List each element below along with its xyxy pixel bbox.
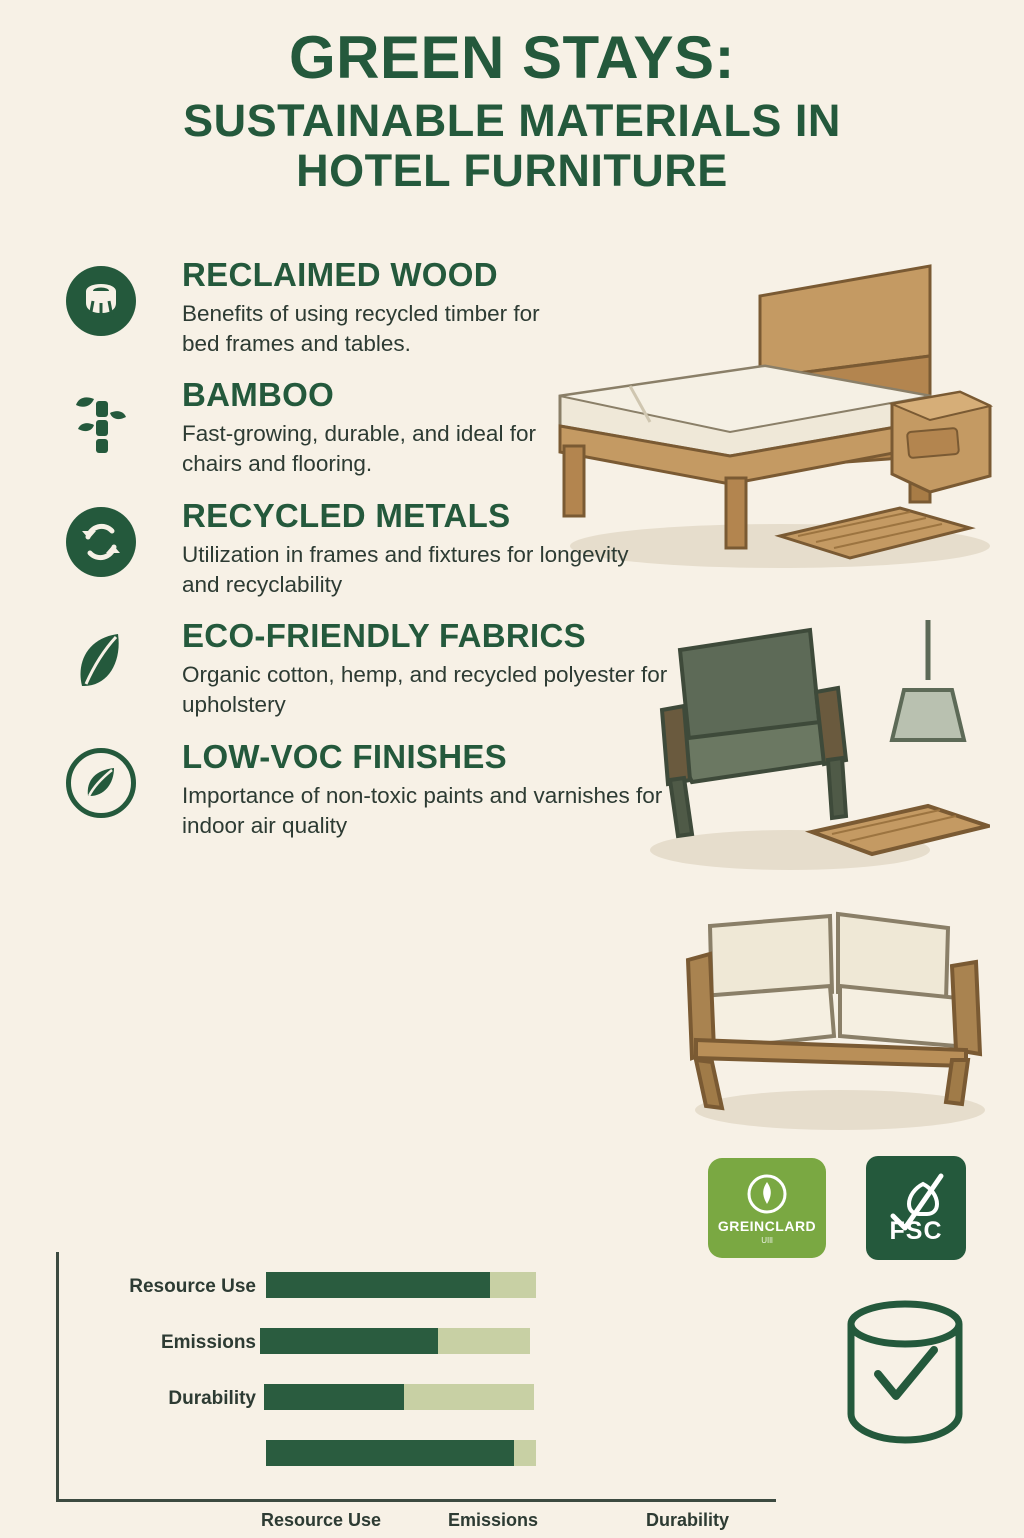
- section-low-voc-finishes: Low-VOC Finishes Importance of non-toxic…: [62, 740, 702, 840]
- section-bamboo: Bamboo Fast-growing, durable, and ideal …: [62, 378, 702, 478]
- section-recycled-metals: Recycled Metals Utilization in frames an…: [62, 499, 702, 599]
- bar-row-0: [266, 1272, 536, 1298]
- section-title: Low-VOC Finishes: [182, 740, 702, 775]
- fsc-badge: FSC: [866, 1156, 966, 1260]
- paint-can-illustration: [830, 1290, 980, 1465]
- section-eco-friendly-fabrics: Eco-Friendly Fabrics Organic cotton, hem…: [62, 619, 702, 719]
- bamboo-icon: [62, 382, 140, 460]
- infographic-page: Green Stays: Sustainable Materials in Ho…: [0, 0, 1024, 1536]
- section-title: Recycled Metals: [182, 499, 702, 534]
- impact-bar-chart: Resource Use Emissions Durability Resour…: [56, 1252, 776, 1522]
- bar-row-2: [264, 1384, 534, 1410]
- greenguard-sublabel: UIll: [761, 1236, 773, 1245]
- bar-row-1: [260, 1328, 530, 1354]
- title-line-2: Sustainable Materials in: [0, 97, 1024, 146]
- section-title: Eco-Friendly Fabrics: [182, 619, 702, 654]
- section-description: Importance of non-toxic paints and varni…: [182, 781, 682, 841]
- greenguard-seal-icon: [745, 1172, 789, 1216]
- section-title: Reclaimed Wood: [182, 258, 702, 293]
- section-title: Bamboo: [182, 378, 702, 413]
- chart-x-axis: [56, 1499, 776, 1502]
- x-tick-0: Resource Use: [261, 1510, 381, 1531]
- bar-fill: [266, 1272, 490, 1298]
- bar-label-2: Durability: [66, 1388, 256, 1410]
- materials-list: Reclaimed Wood Benefits of using recycle…: [62, 258, 702, 860]
- sofa-illustration: [680, 900, 1000, 1145]
- section-description: Benefits of using recycled timber for be…: [182, 299, 562, 359]
- bar-fill: [266, 1440, 514, 1466]
- bar-label-1: Emissions: [66, 1332, 256, 1354]
- bar-label-0: Resource Use: [66, 1276, 256, 1298]
- greenguard-badge: GREINCLARD UIll: [708, 1158, 826, 1258]
- greenguard-label: GREINCLARD: [718, 1218, 816, 1234]
- chart-x-tick-labels: Resource Use Emissions Durability: [56, 1504, 776, 1538]
- x-tick-1: Emissions: [448, 1510, 538, 1531]
- fsc-label: FSC: [866, 1217, 966, 1246]
- page-title: Green Stays: Sustainable Materials in Ho…: [0, 0, 1024, 196]
- recycle-icon: [62, 503, 140, 581]
- x-tick-2: Durability: [646, 1510, 729, 1531]
- tree-stump-icon: [62, 262, 140, 340]
- section-reclaimed-wood: Reclaimed Wood Benefits of using recycle…: [62, 258, 702, 358]
- leaf-in-circle-icon: [62, 744, 140, 822]
- title-line-1: Green Stays:: [0, 26, 1024, 91]
- bar-fill: [260, 1328, 438, 1354]
- section-description: Fast-growing, durable, and ideal for cha…: [182, 419, 602, 479]
- leaf-icon: [62, 623, 140, 701]
- chart-y-axis: [56, 1252, 59, 1502]
- bar-row-3: [266, 1440, 536, 1466]
- section-description: Utilization in frames and fixtures for l…: [182, 540, 652, 600]
- title-line-3: Hotel Furniture: [0, 147, 1024, 196]
- bar-fill: [264, 1384, 404, 1410]
- section-description: Organic cotton, hemp, and recycled polye…: [182, 660, 682, 720]
